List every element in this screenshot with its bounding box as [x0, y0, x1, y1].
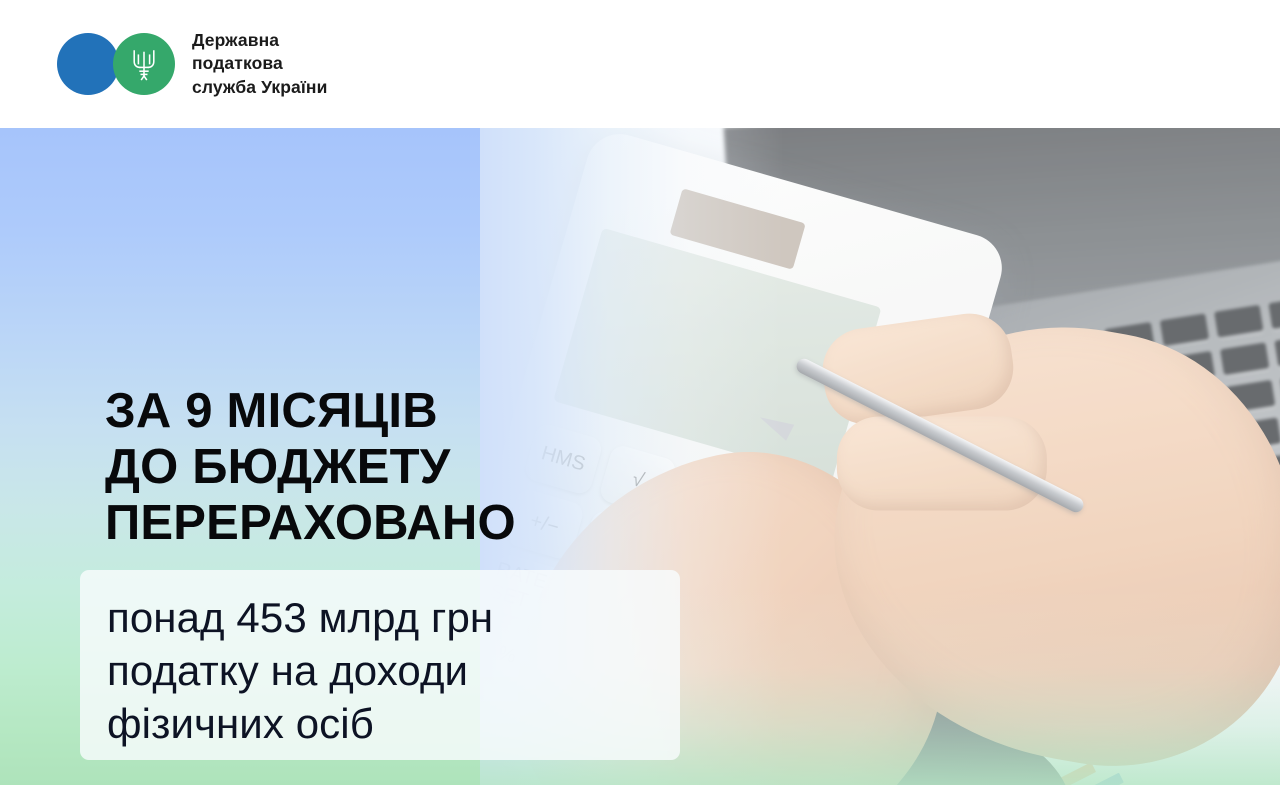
subtitle-text: понад 453 млрд грн податку на доходи фіз… — [107, 592, 680, 751]
page-header: Державна податкова служба України — [0, 0, 1280, 128]
organization-brand: Державна податкова служба України — [57, 29, 327, 98]
headline: ЗА 9 МІСЯЦІВ ДО БЮДЖЕТУ ПЕРЕРАХОВАНО — [105, 383, 516, 551]
subtitle-line-1: понад 453 млрд грн — [107, 592, 680, 645]
org-name-line-2: податкова — [192, 52, 327, 75]
headline-line-1: ЗА 9 МІСЯЦІВ — [105, 383, 516, 439]
subtitle-line-2: податку на доходи — [107, 645, 680, 698]
org-name-line-3: служба України — [192, 76, 327, 99]
poster-canvas: HMS √ M− M+ MC +/− MRC 8 9 ÷ RATE SET 7 … — [0, 128, 1280, 785]
org-name-line-1: Державна — [192, 29, 327, 52]
logo-marks — [57, 33, 175, 95]
subtitle-line-3: фізичних осіб — [107, 698, 680, 751]
headline-line-2: ДО БЮДЖЕТУ — [105, 439, 516, 495]
ukraine-trident-icon — [130, 47, 158, 81]
subtitle-card: понад 453 млрд грн податку на доходи фіз… — [80, 570, 680, 760]
blue-circle-logo-icon — [57, 33, 119, 95]
infographic-poster: Державна податкова служба України — [0, 0, 1280, 785]
organization-name: Державна податкова служба України — [192, 29, 327, 98]
headline-line-3: ПЕРЕРАХОВАНО — [105, 495, 516, 551]
green-circle-logo-icon — [113, 33, 175, 95]
